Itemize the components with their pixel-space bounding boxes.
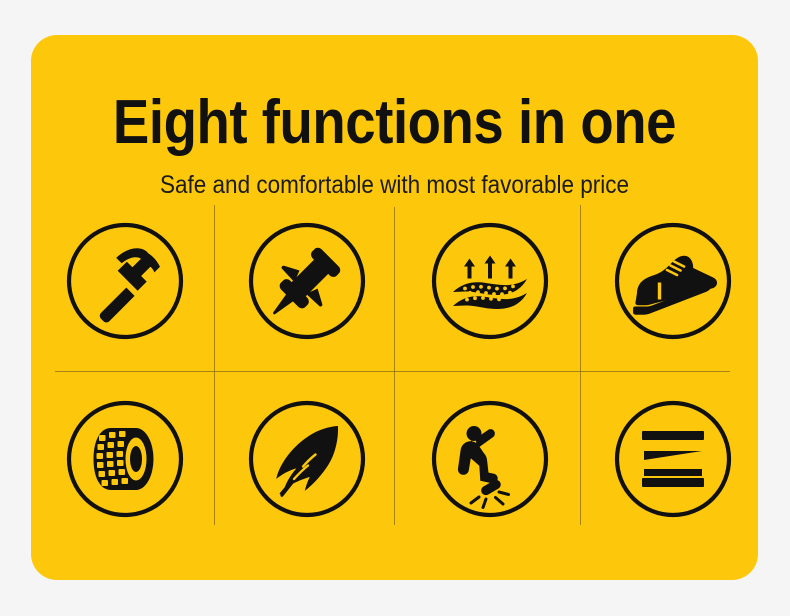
slip-warning-icon bbox=[429, 398, 551, 520]
safety-shoe-icon bbox=[612, 220, 734, 342]
feather-icon bbox=[246, 398, 368, 520]
hammer-icon bbox=[64, 220, 186, 342]
feature-cell-wear-resistant bbox=[60, 394, 190, 524]
poster-canvas: Eight functions in one Safe and comforta… bbox=[0, 0, 790, 616]
feature-cell-breathable bbox=[425, 216, 555, 346]
feature-cell-anti-puncture bbox=[242, 216, 372, 346]
feature-cell-shock-absorption bbox=[608, 394, 738, 524]
breathable-fabric-icon bbox=[429, 220, 551, 342]
feature-cell-lightweight bbox=[242, 394, 372, 524]
feature-icon-grid bbox=[31, 35, 758, 580]
spring-icon bbox=[612, 398, 734, 520]
feature-card: Eight functions in one Safe and comforta… bbox=[31, 35, 758, 580]
tire-icon bbox=[64, 398, 186, 520]
feature-cell-anti-slip bbox=[425, 394, 555, 524]
feature-cell-anti-smash bbox=[60, 216, 190, 346]
push-pin-icon bbox=[246, 220, 368, 342]
feature-cell-safety-shoe bbox=[608, 216, 738, 346]
